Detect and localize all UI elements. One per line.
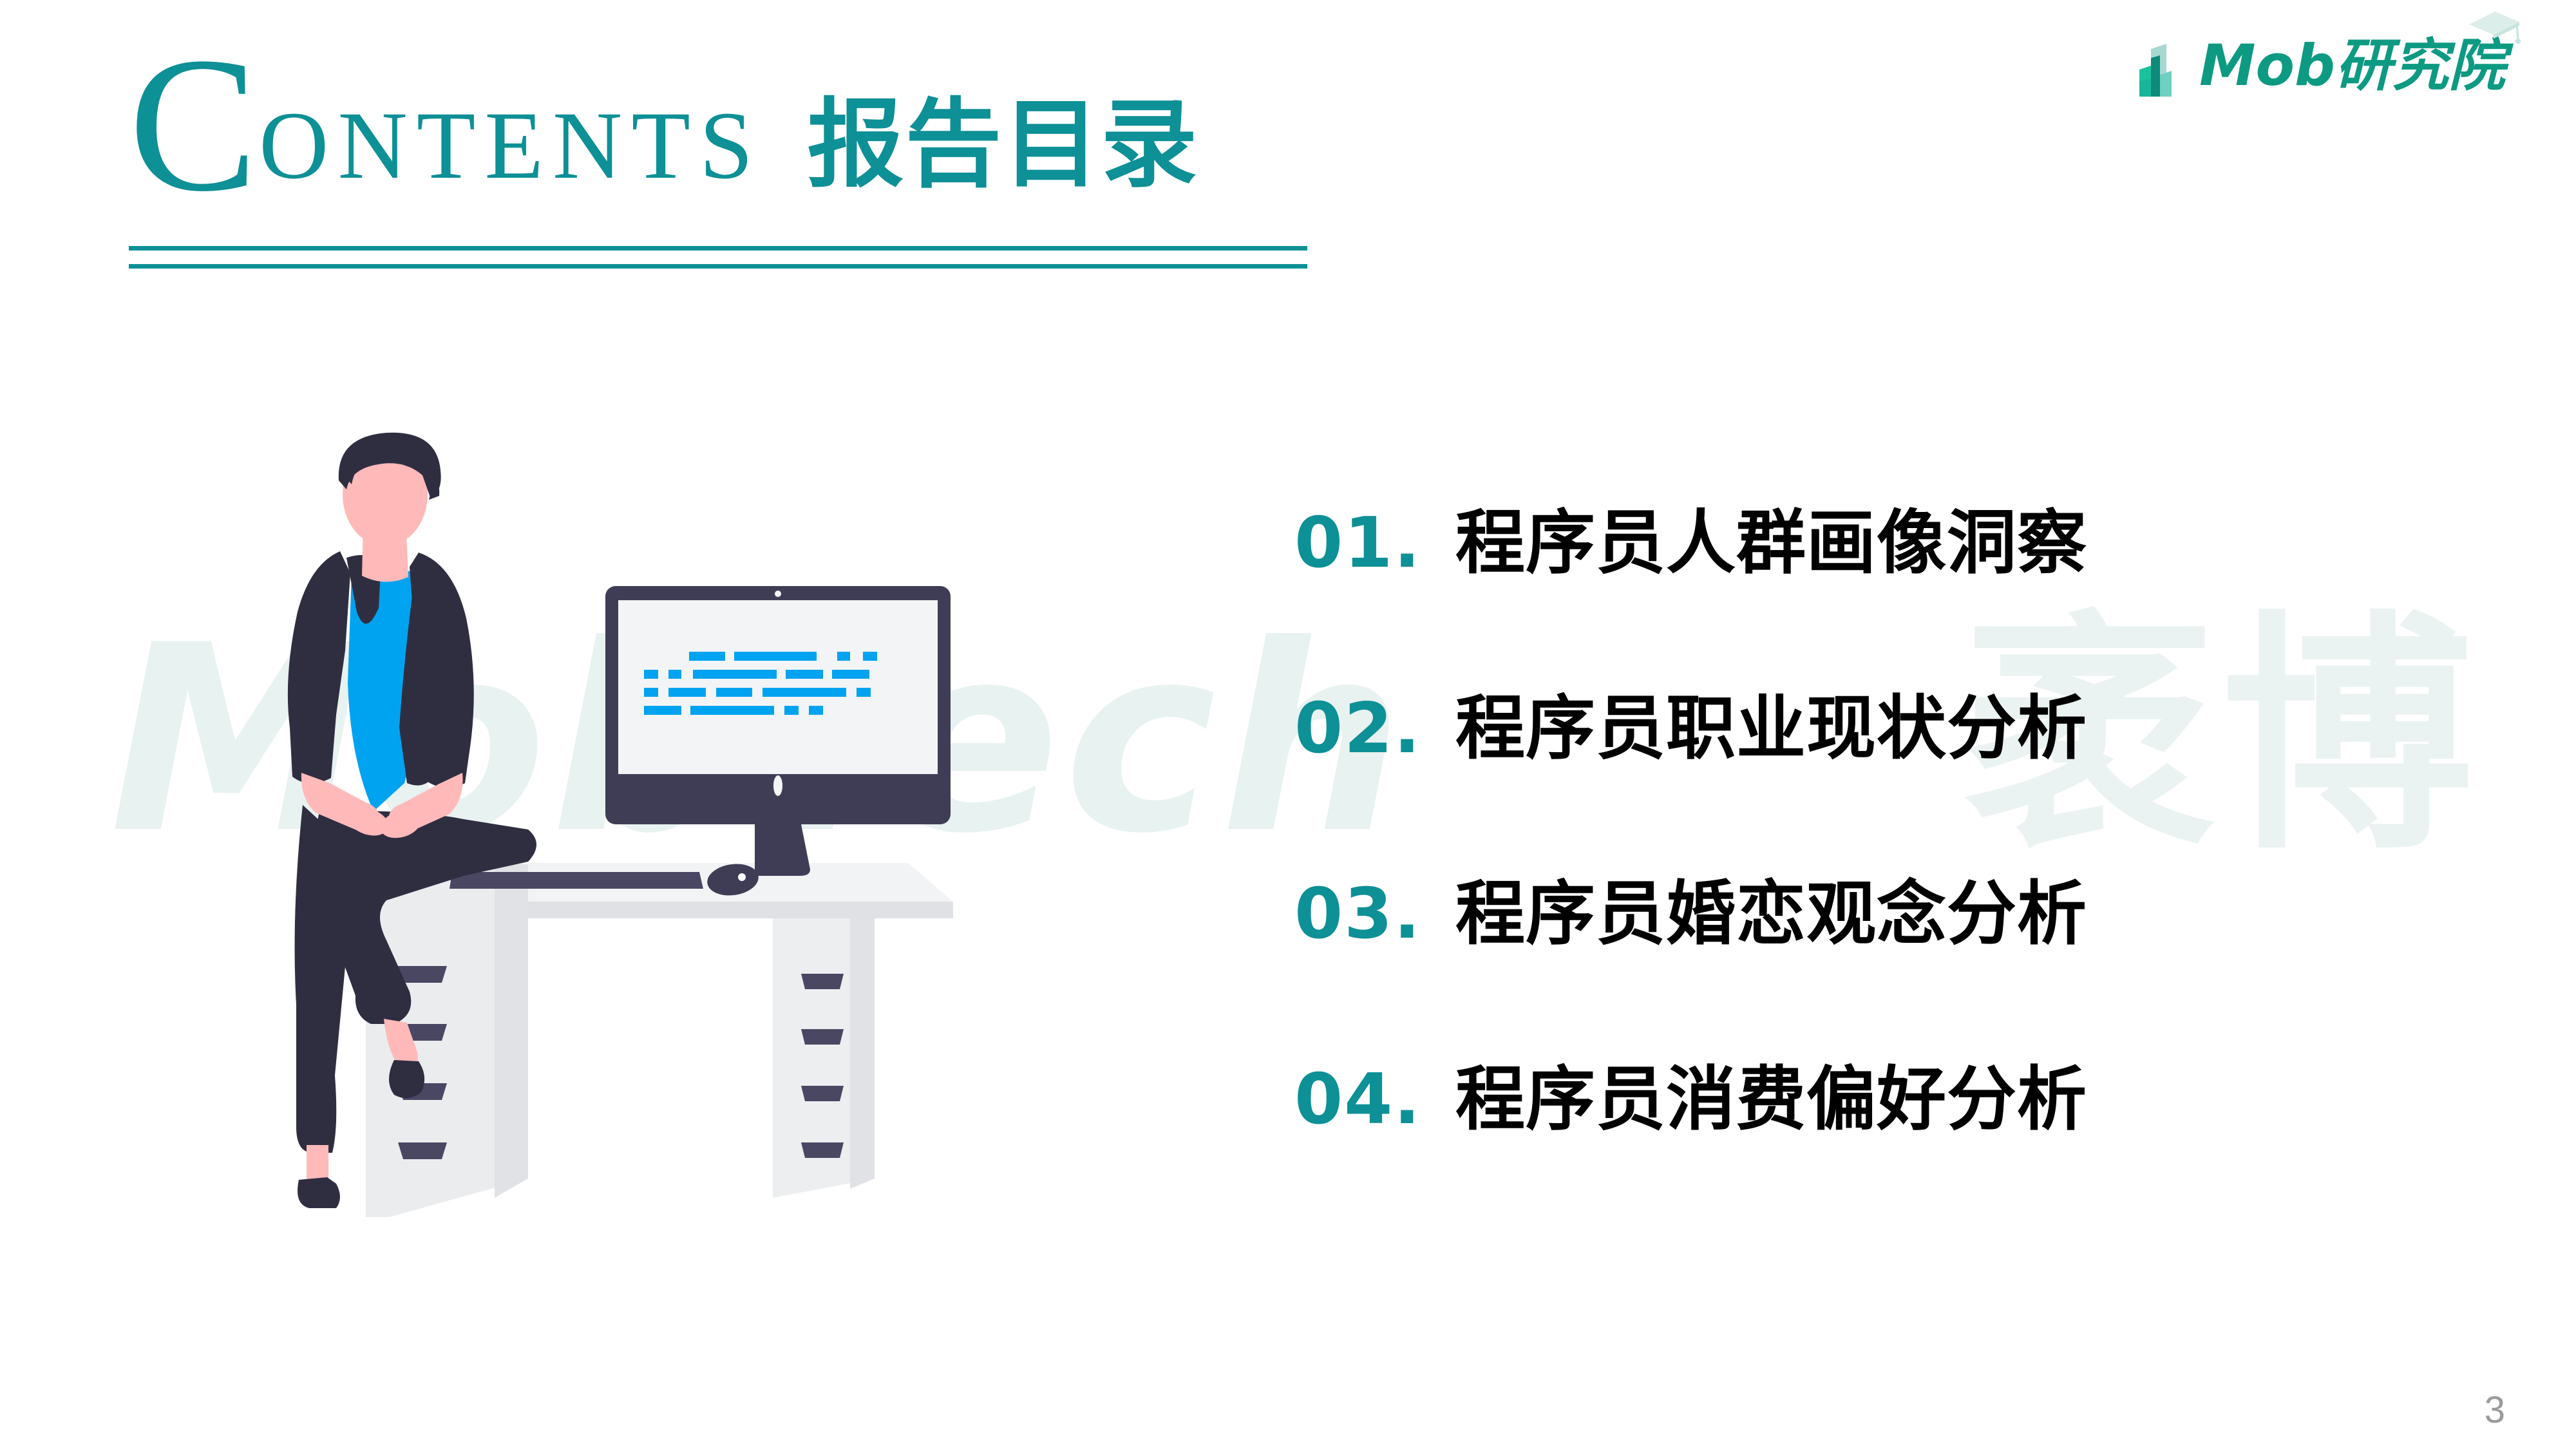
desktop-monitor [605, 586, 951, 876]
bar-chart-mark-icon [2120, 32, 2188, 97]
slide-root: MobTech 袤博 C ONTENTS 报告目录 Mob研究院 [0, 0, 2576, 1449]
man-sitting-at-desk-illustration [193, 425, 1108, 1217]
title-english-text: ONTENTS [259, 97, 762, 194]
contents-item-01[interactable]: 01. 程序员人群画像洞察 [1294, 509, 2325, 694]
logo-wordmark: Mob研究院 [2199, 35, 2505, 97]
title-initial-letter: C [129, 41, 258, 207]
contents-item-02[interactable]: 02. 程序员职业现状分析 [1294, 694, 2325, 880]
contents-item-number: 01. [1294, 509, 1455, 578]
title-divider-top [129, 246, 1307, 251]
page-number: 3 [2485, 1390, 2505, 1431]
contents-item-04[interactable]: 04. 程序员消费偏好分析 [1294, 1065, 2325, 1251]
logo-text-label: Mob研究院 [2199, 32, 2505, 99]
brand-logo: Mob研究院 [2120, 26, 2505, 97]
contents-item-label: 程序员人群画像洞察 [1455, 509, 2087, 578]
contents-item-label: 程序员职业现状分析 [1455, 694, 2087, 764]
desk-group [348, 863, 953, 1217]
contents-item-number: 04. [1294, 1065, 1455, 1135]
contents-item-label: 程序员消费偏好分析 [1455, 1065, 2087, 1135]
contents-item-number: 02. [1294, 694, 1455, 764]
title-divider-bottom [129, 264, 1307, 269]
contents-item-03[interactable]: 03. 程序员婚恋观念分析 [1294, 880, 2325, 1065]
contents-list: 01. 程序员人群画像洞察 02. 程序员职业现状分析 03. 程序员婚恋观念分… [1294, 509, 2325, 1251]
contents-item-label: 程序员婚恋观念分析 [1455, 880, 2087, 949]
page-title: C ONTENTS 报告目录 [129, 30, 1198, 196]
contents-item-number: 03. [1294, 880, 1455, 949]
title-chinese-text: 报告目录 [807, 97, 1198, 193]
graduation-cap-icon [2467, 10, 2522, 46]
